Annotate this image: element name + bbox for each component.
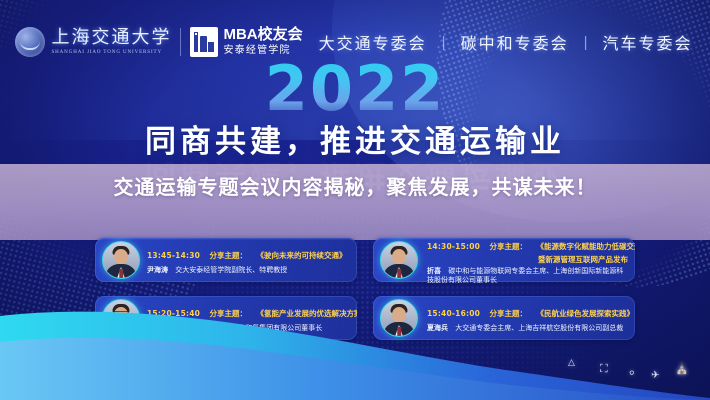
sjtu-logo: 上海交通大学 SHANGHAI JIAO TONG UNIVERSITY [15, 27, 171, 57]
sjtu-seal-icon [15, 27, 45, 57]
committee-list: 大交通专委会 | 碳中和专委会 | 汽车专委会 [317, 30, 695, 54]
university-name-cn: 上海交通大学 [51, 29, 171, 47]
avatar [380, 241, 418, 279]
session-time: 14:30-15:00 [427, 242, 480, 251]
session-time: 13:45-14:30 [147, 251, 200, 260]
committee-item-automobile: 汽车专委会 [601, 30, 695, 54]
session-topic-label: 分享主题： [210, 251, 248, 260]
vehicle-icon-4: ✈ [651, 370, 659, 381]
logo-divider [180, 28, 181, 56]
mba-building-icon [190, 27, 218, 57]
speaker-name: 尹海涛 [147, 266, 168, 274]
bottom-wave [0, 290, 710, 400]
poster-headline: 同商共建，推进交通运输业 [0, 126, 710, 159]
vehicle-icon-5: ⛪ [675, 362, 689, 375]
session-topic: 《能源数字化赋能助力低碳交通》 [536, 242, 635, 251]
session-topic: 《驶向未来的可持续交通》 [256, 251, 346, 260]
session-topic-label: 分享主题： [490, 242, 528, 251]
vehicle-icon-1: △ [568, 357, 575, 368]
speaker-name: 折喜 [427, 267, 441, 275]
session-card[interactable]: 13:45-14:30 分享主题： 《驶向未来的可持续交通》 尹海涛 交大安泰经… [95, 238, 357, 282]
vehicle-icon-2: ⛶ [600, 363, 608, 376]
university-name-en: SHANGHAI JIAO TONG UNIVERSITY [51, 50, 171, 55]
poster-image: 上海交通大学 SHANGHAI JIAO TONG UNIVERSITY MBA… [0, 0, 710, 400]
year-heading: 2022 [0, 58, 710, 120]
session-topic-line2: 暨新源管理互联网产品发布 [427, 255, 628, 264]
committee-separator-2: | [584, 34, 588, 51]
speaker-title: 碳中和与能源物联网专委会主席、上海创新国际新能源科技股份有限公司董事长 [427, 267, 623, 284]
vehicle-icon-3: ⚪ [628, 368, 636, 379]
speaker-title: 交大安泰经管学院副院长、特聘教授 [175, 266, 287, 274]
session-card[interactable]: 14:30-15:00 分享主题： 《能源数字化赋能助力低碳交通》 暨新源管理互… [373, 238, 635, 282]
caption-overlay-text: 交通运输专题会议内容揭秘，聚焦发展，共谋未来！ [0, 172, 710, 203]
committee-separator-1: | [442, 34, 446, 51]
committee-item-carbon-neutral: 碳中和专委会 [459, 30, 571, 54]
mba-alumni-label: MBA校友会 [223, 27, 302, 43]
avatar [102, 241, 140, 279]
committee-item-transport: 大交通专委会 [317, 30, 429, 54]
